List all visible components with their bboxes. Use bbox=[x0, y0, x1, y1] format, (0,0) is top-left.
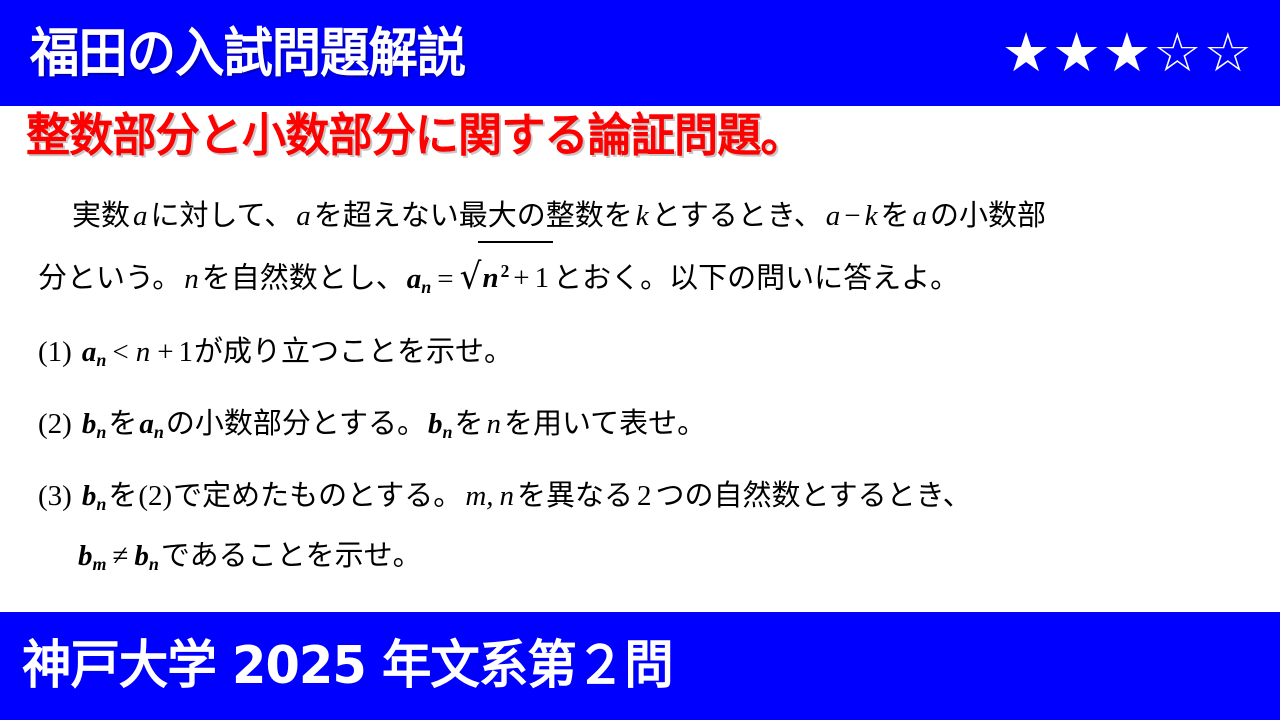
q3-b-subscript: n bbox=[96, 494, 106, 514]
question-2-label: (2) bbox=[38, 408, 72, 440]
star-icon-4: ☆ bbox=[1153, 26, 1201, 80]
radicand-n: n bbox=[480, 262, 500, 294]
q1-a-n: an bbox=[80, 336, 109, 368]
var-n-1: n bbox=[181, 263, 202, 295]
q3-b-n: bn bbox=[80, 480, 109, 512]
question-item-3-continuation: bm≠bnであることを示せ。 bbox=[38, 529, 1242, 589]
var-a-3: a bbox=[823, 200, 844, 232]
equals-operator: = bbox=[433, 263, 457, 295]
preamble2-text-1: 分という。 bbox=[38, 263, 181, 295]
radicand: n2+1 bbox=[478, 241, 553, 304]
q2-wo-1: を bbox=[108, 408, 137, 440]
radicand-plus: + bbox=[509, 262, 533, 294]
q2-b-subscript-1: n bbox=[96, 422, 106, 442]
q3-var-n: n bbox=[497, 480, 518, 512]
channel-title: 福田の入試問題解説 bbox=[30, 27, 465, 80]
var-a-1: a bbox=[130, 200, 151, 232]
radicand-exponent: 2 bbox=[501, 261, 510, 281]
preamble-text-4: とするとき、 bbox=[652, 200, 823, 232]
q2-tail-text: を用いて表せ。 bbox=[504, 408, 706, 440]
minus-operator: − bbox=[843, 200, 861, 232]
q2-a-base: a bbox=[139, 408, 154, 440]
preamble-text-5: を bbox=[880, 200, 909, 232]
preamble-text-1: 実数 bbox=[72, 200, 130, 232]
q2-wo-2: を bbox=[454, 408, 483, 440]
q3-two: 2 bbox=[633, 480, 656, 512]
difficulty-star-rating: ★ ★ ★ ☆ ☆ bbox=[1002, 26, 1252, 80]
star-icon-1: ★ bbox=[1002, 26, 1050, 80]
q3c-b-m: bm bbox=[76, 540, 108, 572]
q3c-b-subscript-n: n bbox=[149, 554, 159, 574]
q2-b-base-1: b bbox=[82, 408, 97, 440]
header-bar: 福田の入試問題解説 ★ ★ ★ ☆ ☆ bbox=[0, 0, 1280, 106]
q3-wo: を bbox=[108, 480, 137, 512]
var-a-4: a bbox=[909, 200, 930, 232]
q2-var-n: n bbox=[484, 408, 505, 440]
q2-mid-text: の小数部分とする。 bbox=[166, 408, 426, 440]
q3c-b-subscript-m: m bbox=[93, 554, 107, 574]
q3c-b-base-1: b bbox=[78, 540, 93, 572]
q3-reference: (2) bbox=[137, 480, 173, 512]
var-k-1: k bbox=[633, 200, 652, 232]
q2-a-n: an bbox=[137, 408, 166, 440]
preamble2-text-3: とおく。以下の問いに答えよ。 bbox=[553, 263, 959, 295]
q1-var-n: n bbox=[133, 336, 154, 368]
q2-b-n-1: bn bbox=[80, 408, 109, 440]
q1-a-base: a bbox=[82, 336, 97, 368]
exam-source-label: 神戸大学 2025 年文系第２問 bbox=[22, 640, 673, 692]
q1-one: 1 bbox=[178, 336, 195, 368]
question-item-1: (1)an<n+1が成り立つことを示せ。 bbox=[38, 313, 1242, 385]
preamble-line-1: 実数aに対して、aを超えない最大の整数をkとするとき、a−kをaの小数部 bbox=[38, 190, 1242, 242]
var-a-2: a bbox=[293, 200, 314, 232]
q2-a-subscript: n bbox=[154, 422, 164, 442]
star-icon-3: ★ bbox=[1103, 26, 1151, 80]
topic-title: 整数部分と小数部分に関する論証問題。 bbox=[26, 112, 804, 158]
q3-mid-text: で定めたものとする。 bbox=[173, 480, 462, 512]
q3-tail-text: つの自然数とするとき、 bbox=[656, 480, 972, 512]
seq-a-base: a bbox=[407, 263, 422, 295]
preamble2-text-2: を自然数とし、 bbox=[202, 263, 405, 295]
q3c-b-base-2: b bbox=[134, 540, 149, 572]
question-item-2: (2)bnをanの小数部分とする。bnをnを用いて表せ。 bbox=[38, 385, 1242, 457]
problem-statement: 実数aに対して、aを超えない最大の整数をkとするとき、a−kをaの小数部 分とい… bbox=[0, 190, 1280, 589]
question-item-3: (3)bnを(2)で定めたものとする。m,nを異なる2つの自然数とするとき、 bbox=[38, 457, 1242, 529]
q1-plus: + bbox=[153, 336, 177, 368]
q1-tail-text: が成り立つことを示せ。 bbox=[194, 336, 513, 368]
q3-var-m: m, bbox=[462, 480, 496, 512]
seq-a-subscript: n bbox=[421, 277, 431, 297]
preamble-text-3: を超えない最大の整数を bbox=[314, 200, 633, 232]
preamble-text-6: の小数部 bbox=[930, 200, 1046, 232]
preamble-line-2: 分という。nを自然数とし、an=√n2+1とおく。以下の問いに答えよ。 bbox=[38, 242, 1242, 313]
seq-a-n: an bbox=[405, 263, 434, 295]
q1-a-subscript: n bbox=[96, 350, 106, 370]
not-equal-operator: ≠ bbox=[108, 540, 132, 572]
footer-bar: 神戸大学 2025 年文系第２問 bbox=[0, 612, 1280, 720]
question-3-label: (3) bbox=[38, 480, 72, 512]
var-k-2: k bbox=[862, 200, 881, 232]
preamble-text-2: に対して、 bbox=[151, 200, 294, 232]
sqrt-expression: √n2+1 bbox=[458, 242, 554, 305]
question-1-label: (1) bbox=[38, 336, 72, 368]
q3-mid-text-2: を異なる bbox=[517, 480, 633, 512]
q3c-tail-text: であることを示せ。 bbox=[161, 540, 422, 572]
q2-b-subscript-2: n bbox=[442, 422, 452, 442]
radicand-one: 1 bbox=[534, 262, 551, 294]
q2-b-n-2: bn bbox=[426, 408, 455, 440]
q3-b-base: b bbox=[82, 480, 97, 512]
q2-b-base-2: b bbox=[428, 408, 443, 440]
star-icon-2: ★ bbox=[1052, 26, 1100, 80]
q3c-b-n: bn bbox=[132, 540, 161, 572]
star-icon-5: ☆ bbox=[1204, 26, 1252, 80]
q1-less-than: < bbox=[108, 336, 132, 368]
